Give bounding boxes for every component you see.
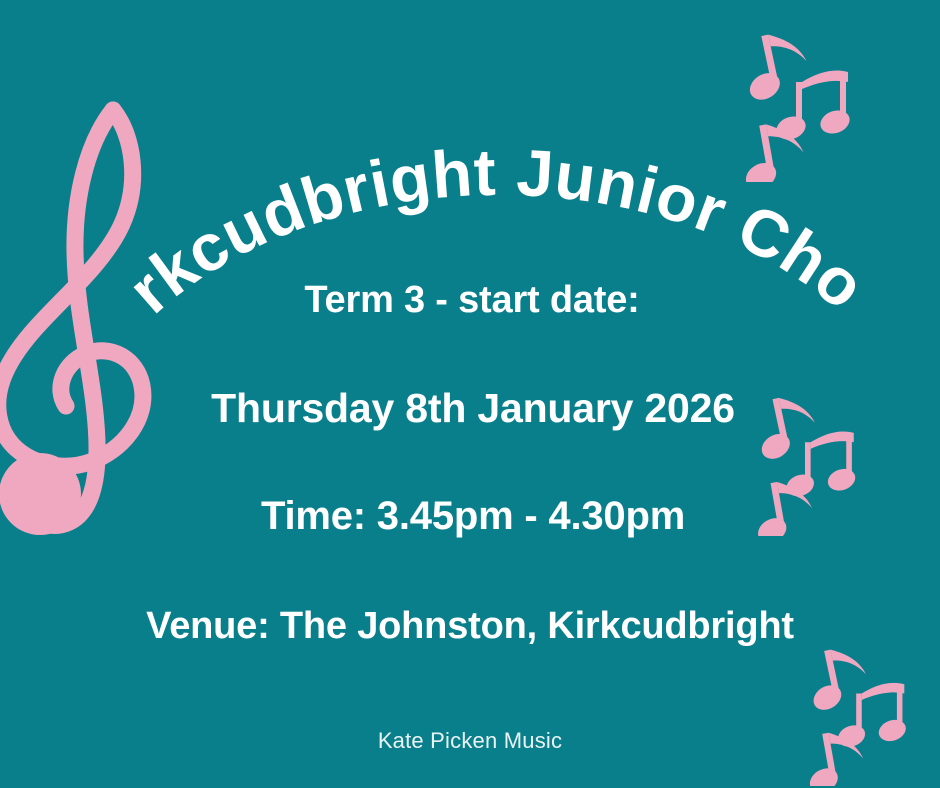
venue-value: Venue: The Johnston, Kirkcudbright — [0, 598, 940, 654]
credit-label: Kate Picken Music — [0, 728, 940, 754]
details-block: Term 3 - start date: Thursday 8th Januar… — [0, 272, 940, 654]
poster-canvas: Kirkcudbright Junior Choir Term 3 - star… — [0, 0, 940, 788]
start-date-value: Thursday 8th January 2026 — [6, 380, 940, 436]
term-start-label: Term 3 - start date: — [4, 272, 940, 328]
music-notes-icon — [808, 638, 934, 786]
time-value: Time: 3.45pm - 4.30pm — [6, 488, 940, 544]
